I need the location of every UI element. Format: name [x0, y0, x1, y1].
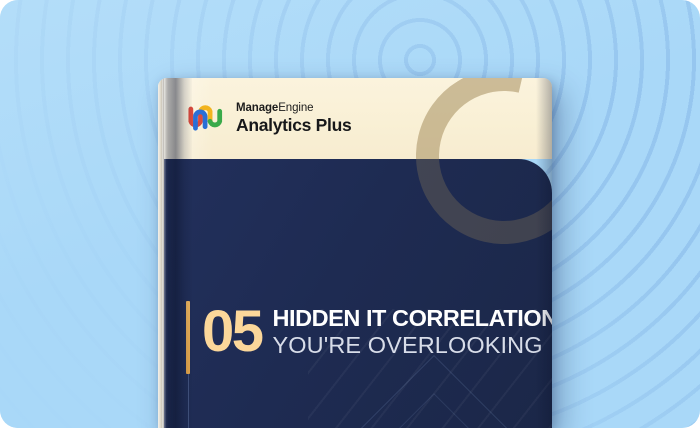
brand-logo: ManageEngine Analytics Plus [187, 103, 351, 134]
book-cover: 05 HIDDEN IT CORRELATIONS YOU'RE OVERLOO… [158, 78, 552, 428]
brand-logo-text: ManageEngine Analytics Plus [236, 103, 351, 134]
decorative-diamond-outer [345, 355, 523, 428]
cover-body-panel: 05 HIDDEN IT CORRELATIONS YOU'RE OVERLOO… [158, 159, 552, 428]
cover-title: 05 HIDDEN IT CORRELATIONS YOU'RE OVERLOO… [202, 302, 552, 359]
title-line-2: YOU'RE OVERLOOKING [273, 332, 552, 358]
title-accent-bar [186, 301, 190, 374]
brand-name-light: Engine [278, 102, 313, 114]
brand-name: ManageEngine [236, 103, 351, 115]
title-accent-rule [188, 374, 189, 428]
title-number: 05 [202, 304, 262, 359]
decorative-diamond-inner [383, 393, 485, 428]
brand-name-bold: Manage [236, 102, 278, 114]
title-line-1: HIDDEN IT CORRELATIONS [273, 306, 552, 331]
title-text-lines: HIDDEN IT CORRELATIONS YOU'RE OVERLOOKIN… [273, 302, 552, 359]
ebook-cover-stage: 05 HIDDEN IT CORRELATIONS YOU'RE OVERLOO… [0, 0, 700, 428]
product-name: Analytics Plus [236, 117, 351, 135]
manageengine-wave-logo-icon [187, 104, 227, 134]
